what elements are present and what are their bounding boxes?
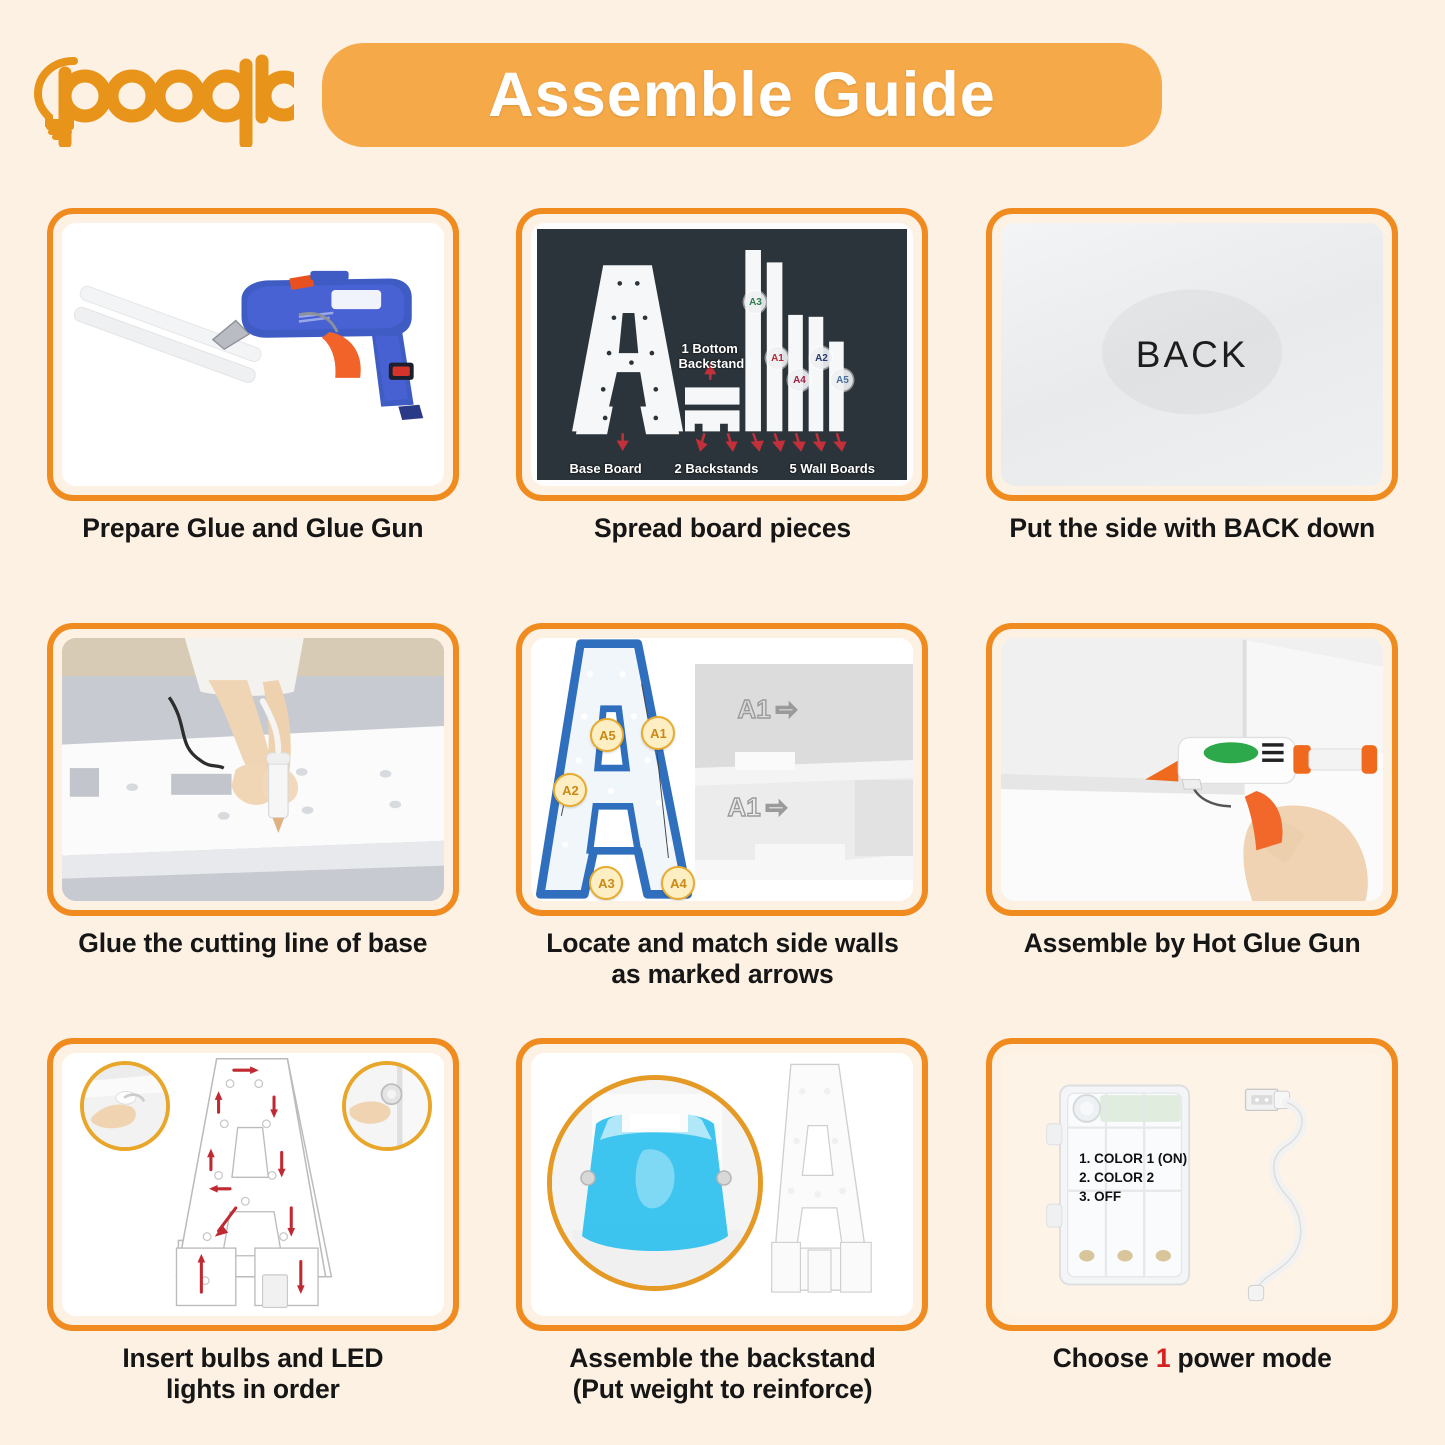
step-8-caption-line2: (Put weight to reinforce) xyxy=(507,1374,937,1405)
step-5-caption: Locate and match side walls as marked ar… xyxy=(507,928,937,991)
steps-grid: Prepare Glue and Glue Gun xyxy=(0,190,1445,1435)
step-5-caption-line2: as marked arrows xyxy=(507,959,937,990)
step-card-1: Prepare Glue and Glue Gun xyxy=(18,190,488,605)
step-9-caption: Choose 1 power mode xyxy=(977,1343,1407,1374)
step-5-caption-line1: Locate and match side walls xyxy=(507,928,937,959)
gluing-base-photo xyxy=(62,638,444,901)
step-5-image-frame: A5 A1 A2 A3 A4 xyxy=(516,623,928,916)
step-9-caption-pre: Choose xyxy=(1053,1343,1156,1373)
step-8-caption: Assemble the backstand (Put weight to re… xyxy=(507,1343,937,1406)
step-7-image-frame xyxy=(47,1038,459,1331)
page-title-banner: Assemble Guide xyxy=(322,43,1162,147)
step-4-image-frame xyxy=(47,623,459,916)
step-2-image-frame: 1 Bottom Backstand Base Board 2 Backstan… xyxy=(516,208,928,501)
step-card-4: Glue the cutting line of base xyxy=(18,605,488,1020)
step-card-9: 1. COLOR 1 (ON) 2. COLOR 2 3. OFF Choose… xyxy=(957,1020,1427,1435)
step-card-6: Assemble by Hot Glue Gun xyxy=(957,605,1427,1020)
step-3-image-frame: BACK xyxy=(986,208,1398,501)
step-7-caption: Insert bulbs and LED lights in order xyxy=(38,1343,468,1406)
power-mode-list: 1. COLOR 1 (ON) 2. COLOR 2 3. OFF xyxy=(1079,1149,1187,1206)
step-7-caption-line1: Insert bulbs and LED xyxy=(38,1343,468,1374)
step-card-2: 1 Bottom Backstand Base Board 2 Backstan… xyxy=(488,190,958,605)
insert-bulbs-diagram xyxy=(62,1053,444,1316)
step-1-caption: Prepare Glue and Glue Gun xyxy=(38,513,468,544)
page-header: Assemble Guide xyxy=(0,0,1445,190)
step-6-image-frame xyxy=(986,623,1398,916)
label-2-backstands: 2 Backstands xyxy=(674,461,758,476)
inset-photo-screw-bulb xyxy=(342,1061,432,1151)
power-mode-1: 1. COLOR 1 (ON) xyxy=(1079,1149,1187,1168)
board-mark-a1-top: A1 ⇨ xyxy=(737,694,797,725)
glue-gun-photo xyxy=(62,223,444,486)
locate-side-walls-diagram: A5 A1 A2 A3 A4 xyxy=(531,638,913,901)
label-bottom-backstand-line1: 1 Bottom xyxy=(681,341,737,356)
board-mark-a1-bottom: A1 ⇨ xyxy=(727,792,787,823)
brand-logo xyxy=(22,43,300,147)
step-2-caption: Spread board pieces xyxy=(507,513,937,544)
step-card-7: Insert bulbs and LED lights in order xyxy=(18,1020,488,1435)
power-mode-2: 2. COLOR 2 xyxy=(1079,1168,1187,1187)
inset-photo-water-weight xyxy=(547,1075,763,1291)
step-4-caption: Glue the cutting line of base xyxy=(38,928,468,959)
step-card-3: BACK Put the side with BACK down xyxy=(957,190,1427,605)
label-base-board: Base Board xyxy=(569,461,641,476)
step-9-caption-post: power mode xyxy=(1170,1343,1331,1373)
board-pieces-diagram: 1 Bottom Backstand Base Board 2 Backstan… xyxy=(537,229,907,480)
step-card-5: A5 A1 A2 A3 A4 xyxy=(488,605,958,1020)
power-mode-3: 3. OFF xyxy=(1079,1187,1187,1206)
step-1-image-frame xyxy=(47,208,459,501)
mark-label-a1-bottom: A1 xyxy=(727,792,760,823)
step-9-caption-highlight: 1 xyxy=(1156,1343,1171,1373)
back-panel-photo: BACK xyxy=(1001,223,1383,486)
page-title: Assemble Guide xyxy=(488,59,996,131)
step-8-image-frame xyxy=(516,1038,928,1331)
hot-glue-assembly-photo xyxy=(1001,638,1383,901)
step-3-caption: Put the side with BACK down xyxy=(977,513,1407,544)
power-mode-photo: 1. COLOR 1 (ON) 2. COLOR 2 3. OFF xyxy=(1001,1053,1383,1316)
step-6-caption: Assemble by Hot Glue Gun xyxy=(977,928,1407,959)
step-card-8: Assemble the backstand (Put weight to re… xyxy=(488,1020,958,1435)
pooqla-logo-icon xyxy=(22,43,294,147)
inset-photo-insert-bulb xyxy=(80,1061,170,1151)
back-label: BACK xyxy=(1136,334,1249,376)
backstand-weight-diagram xyxy=(531,1053,913,1316)
mark-label-a1-top: A1 xyxy=(737,694,770,725)
label-5-wall-boards: 5 Wall Boards xyxy=(789,461,874,476)
step-8-caption-line1: Assemble the backstand xyxy=(507,1343,937,1374)
right-arrow-icon-bottom: ⇨ xyxy=(766,792,788,823)
step-9-image-frame: 1. COLOR 1 (ON) 2. COLOR 2 3. OFF xyxy=(986,1038,1398,1331)
label-bottom-backstand-line2: Backstand xyxy=(678,356,744,371)
board-marking-photo: A1 ⇨ A1 ⇨ xyxy=(695,664,913,880)
right-arrow-icon-top: ⇨ xyxy=(776,694,798,725)
step-7-caption-line2: lights in order xyxy=(38,1374,468,1405)
